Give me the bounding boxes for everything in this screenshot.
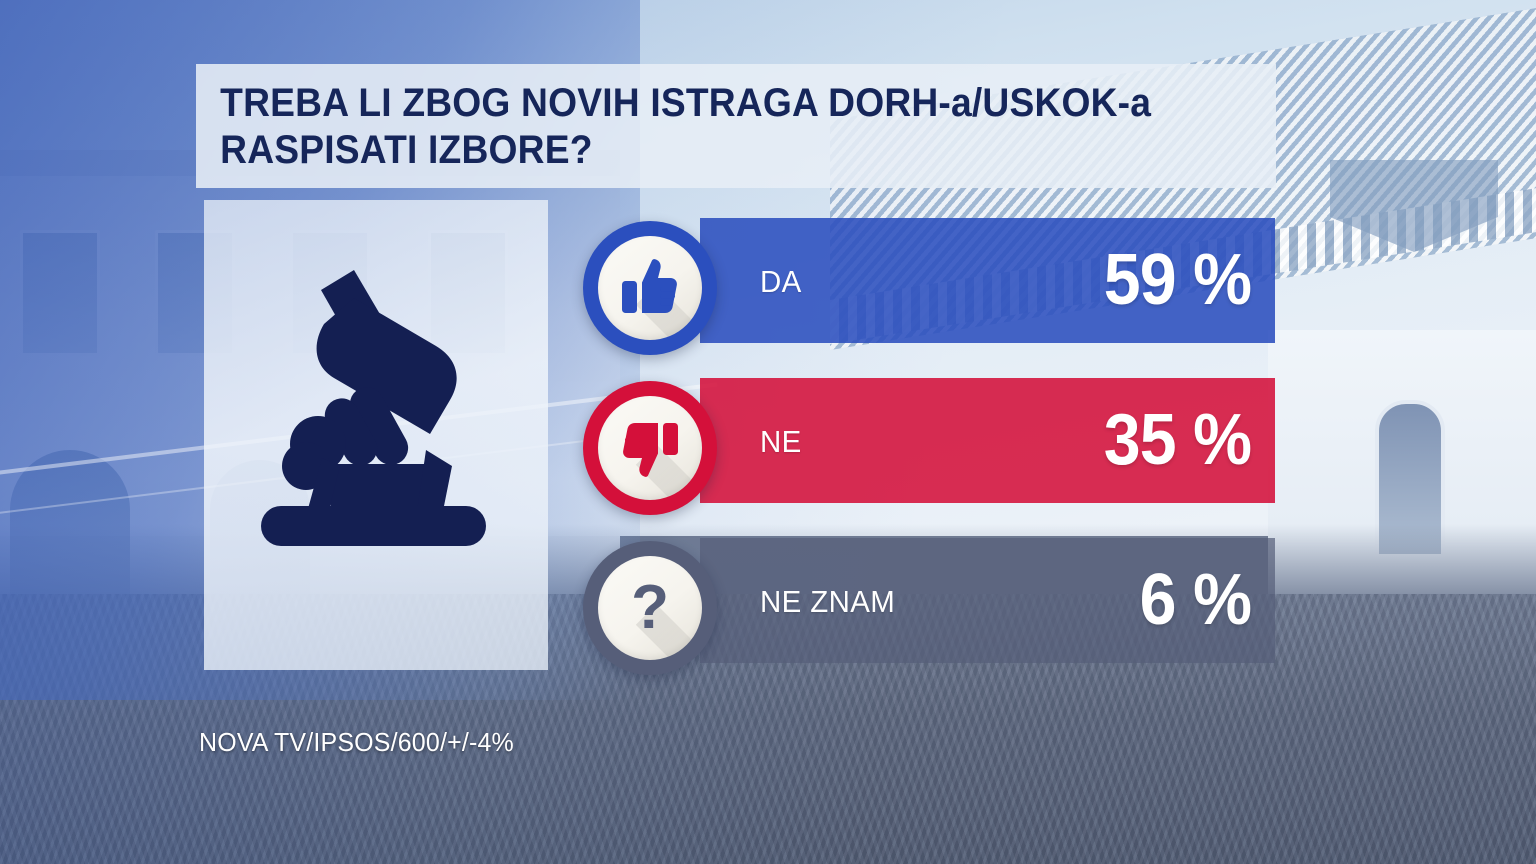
result-label-ne: NE bbox=[760, 424, 802, 460]
badge-inner-ne-znam: ? bbox=[598, 556, 702, 660]
thumbs-down-icon bbox=[620, 419, 680, 477]
source-credit: NOVA TV/IPSOS/600/+/-4% bbox=[199, 727, 514, 758]
badge-ne-znam: ? bbox=[583, 541, 717, 675]
result-row-da: DA 59 % bbox=[575, 218, 1281, 343]
illustration-panel bbox=[204, 200, 548, 670]
results-list: DA 59 % NE bbox=[575, 200, 1281, 680]
question-mark-icon: ? bbox=[631, 577, 669, 639]
badge-inner-ne bbox=[598, 396, 702, 500]
result-row-ne-znam: NE ZNAM 6 % ? bbox=[575, 538, 1281, 663]
badge-da bbox=[583, 221, 717, 355]
result-label-da: DA bbox=[760, 264, 802, 300]
result-value-ne-znam: 6 % bbox=[1140, 564, 1251, 636]
poll-graphic: TREBA LI ZBOG NOVIH ISTRAGA DORH-a/USKOK… bbox=[0, 0, 1536, 864]
result-label-ne-znam: NE ZNAM bbox=[760, 584, 895, 620]
thumbs-up-icon bbox=[620, 259, 680, 317]
ballot-box-vote-icon bbox=[226, 268, 526, 608]
page-title: TREBA LI ZBOG NOVIH ISTRAGA DORH-a/USKOK… bbox=[196, 80, 1200, 174]
result-row-ne: NE 35 % bbox=[575, 378, 1281, 503]
result-value-da: 59 % bbox=[1104, 244, 1251, 316]
badge-inner-da bbox=[598, 236, 702, 340]
result-value-ne: 35 % bbox=[1104, 404, 1251, 476]
badge-ne bbox=[583, 381, 717, 515]
title-panel: TREBA LI ZBOG NOVIH ISTRAGA DORH-a/USKOK… bbox=[196, 64, 1276, 188]
